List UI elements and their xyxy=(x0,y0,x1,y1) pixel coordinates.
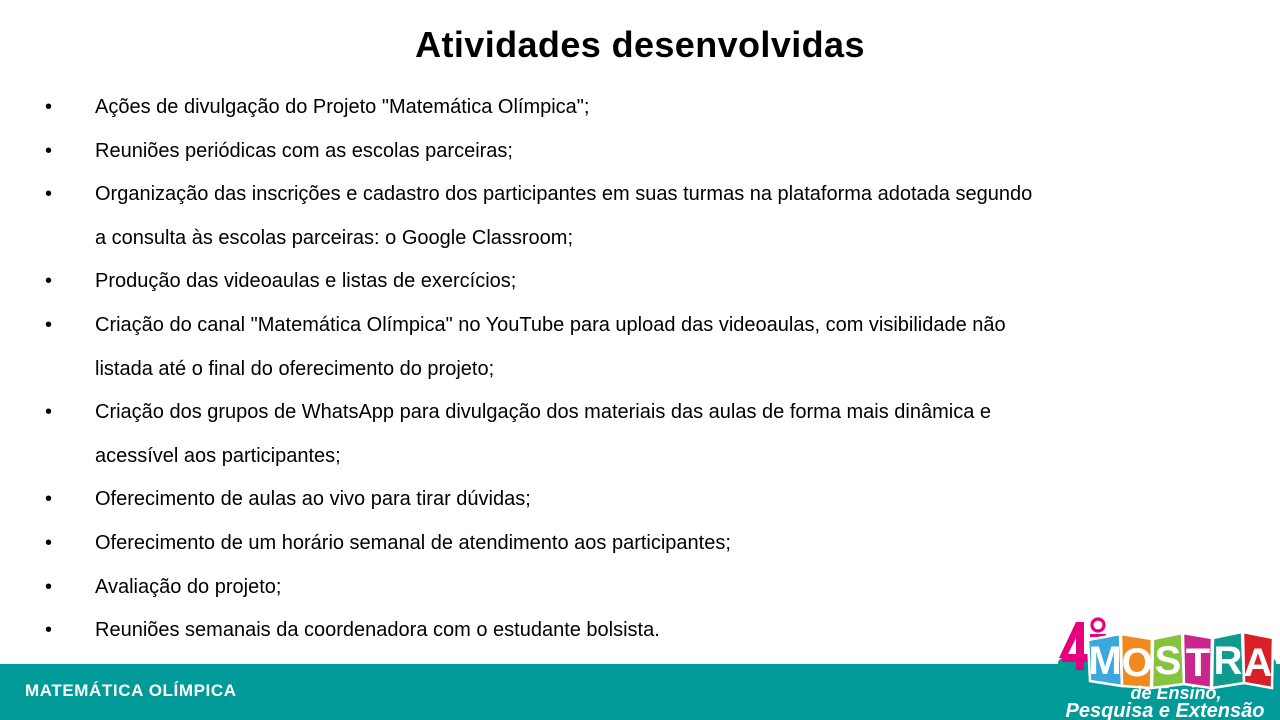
logo-letter-s: S xyxy=(1155,639,1182,683)
bullet-marker: • xyxy=(45,391,57,435)
list-item: • Reuniões periódicas com as escolas par… xyxy=(0,130,1280,174)
bullet-marker: • xyxy=(45,522,57,566)
slide-canvas: Atividades desenvolvidas • Ações de divu… xyxy=(0,0,1280,720)
list-item-text: Criação dos grupos de WhatsApp para divu… xyxy=(95,401,991,423)
list-item-text: Avaliação do projeto; xyxy=(95,576,281,598)
bullet-marker: • xyxy=(45,173,57,217)
list-item-text: Produção das videoaulas e listas de exer… xyxy=(95,270,516,292)
bullet-marker: • xyxy=(45,609,57,653)
page-title: Atividades desenvolvidas xyxy=(0,22,1280,68)
mostra-logo: M O S T R A de Ensino, Pesquisa e Extens… xyxy=(1058,614,1276,720)
list-item-wrap-line: a consulta às escolas parceiras: o Googl… xyxy=(0,217,1280,261)
mostra-logo-graphic: M O S T R A de Ensino, Pesquisa e Extens… xyxy=(1058,614,1276,720)
list-item-text: Reuniões semanais da coordenadora com o … xyxy=(95,619,660,641)
bullet-marker: • xyxy=(45,260,57,304)
list-item: • Ações de divulgação do Projeto "Matemá… xyxy=(0,86,1280,130)
list-item-wrap-line: acessível aos participantes; xyxy=(0,435,1280,479)
list-item: • Oferecimento de um horário semanal de … xyxy=(0,522,1280,566)
bullet-marker: • xyxy=(45,566,57,610)
logo-letter-m: M xyxy=(1088,639,1121,683)
logo-letter-t: T xyxy=(1186,641,1210,685)
logo-letter-r: R xyxy=(1214,639,1243,683)
list-item-text: Oferecimento de um horário semanal de at… xyxy=(95,532,731,554)
list-item-text: a consulta às escolas parceiras: o Googl… xyxy=(95,227,573,249)
list-item: • Avaliação do projeto; xyxy=(0,566,1280,610)
list-item-text: acessível aos participantes; xyxy=(95,445,341,467)
logo-letter-o: O xyxy=(1121,641,1152,685)
bullet-list: • Ações de divulgação do Projeto "Matemá… xyxy=(0,86,1280,653)
footer-project-label: MATEMÁTICA OLÍMPICA xyxy=(25,681,237,701)
bullet-marker: • xyxy=(45,304,57,348)
logo-tagline-line2: Pesquisa e Extensão xyxy=(1066,700,1265,720)
list-item: • Produção das videoaulas e listas de ex… xyxy=(0,260,1280,304)
list-item-text: Organização das inscrições e cadastro do… xyxy=(95,183,1032,205)
list-item: • Criação dos grupos de WhatsApp para di… xyxy=(0,391,1280,435)
bullet-marker: • xyxy=(45,130,57,174)
list-item-text: Criação do canal "Matemática Olímpica" n… xyxy=(95,314,1006,336)
logo-letters: M O S T R A xyxy=(1088,639,1272,685)
bullet-marker: • xyxy=(45,86,57,130)
list-item: • Criação do canal "Matemática Olímpica"… xyxy=(0,304,1280,348)
list-item-text: Ações de divulgação do Projeto "Matemáti… xyxy=(95,96,589,118)
logo-letter-a: A xyxy=(1244,641,1273,685)
list-item-text: Reuniões periódicas com as escolas parce… xyxy=(95,140,513,162)
list-item-wrap-line: listada até o final do oferecimento do p… xyxy=(0,348,1280,392)
list-item-text: Oferecimento de aulas ao vivo para tirar… xyxy=(95,488,531,510)
list-item: • Oferecimento de aulas ao vivo para tir… xyxy=(0,478,1280,522)
list-item: • Organização das inscrições e cadastro … xyxy=(0,173,1280,217)
bullet-marker: • xyxy=(45,478,57,522)
list-item-text: listada até o final do oferecimento do p… xyxy=(95,358,494,380)
